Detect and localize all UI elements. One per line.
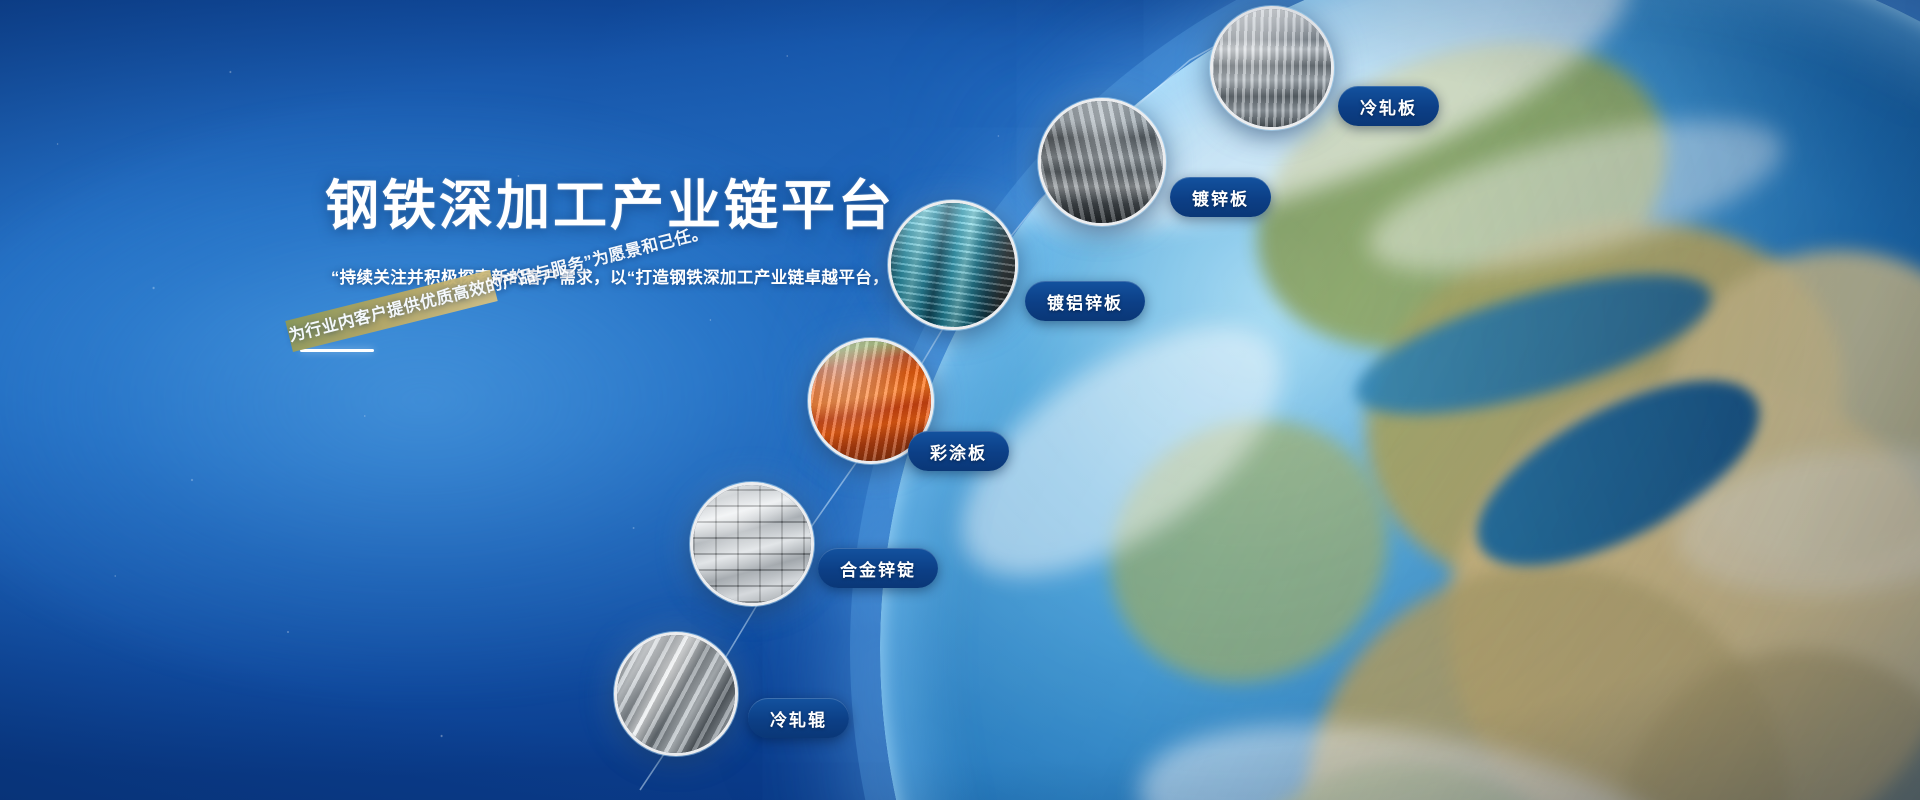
hero-banner: 钢铁深加工产业链平台 “持续关注并积极探索新的客户需求，以“打造钢铁深加工产业链…	[0, 0, 1920, 800]
background-vignette	[0, 0, 1920, 800]
